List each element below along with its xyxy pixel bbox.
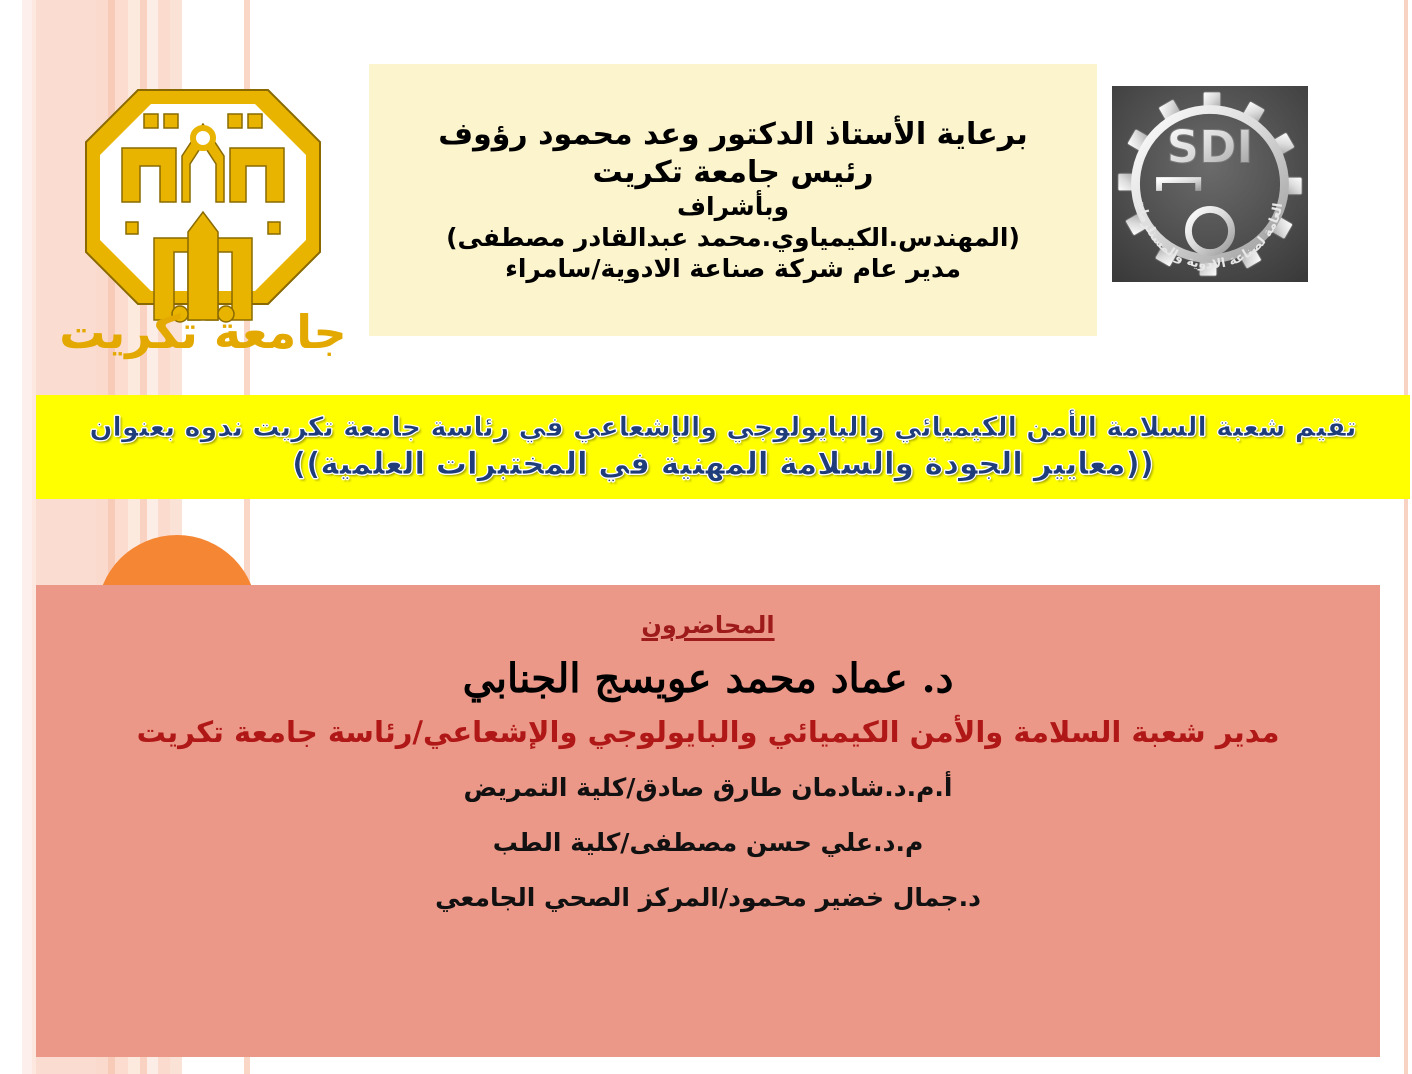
- poster-canvas: جامعة تكريت برعاية الأستاذ الدكتور وعد م…: [0, 0, 1412, 1074]
- banner-line-organizer: تقيم شعبة السلامة الأمن الكيميائي والباي…: [46, 413, 1400, 443]
- patronage-line-1: برعاية الأستاذ الدكتور وعد محمود رؤوف: [383, 116, 1083, 153]
- banner-line-title: ((معايير الجودة والسلامة المهنية في المخ…: [46, 447, 1400, 482]
- patronage-line-2: رئيس جامعة تكريت: [383, 154, 1083, 191]
- list-item: م.د.علي حسن مصطفى/كلية الطب: [66, 827, 1350, 858]
- decorative-stripe-band-right: [1398, 0, 1412, 1074]
- tikrit-university-logo-icon: جامعة تكريت: [48, 52, 358, 362]
- lecturers-heading: المحاضرون: [66, 611, 1350, 639]
- sdi-company-logo-icon: SDI الشركة العامة لصناعة الادوية والمستل…: [1112, 86, 1308, 282]
- main-lecturer-name: د. عماد محمد عويسج الجنابي: [66, 657, 1350, 701]
- main-lecturer-title: مدير شعبة السلامة والأمن الكيميائي والبا…: [66, 715, 1350, 750]
- patronage-line-4: (المهندس.الكيمياوي.محمد عبدالقادر مصطفى): [383, 222, 1083, 253]
- patronage-box: برعاية الأستاذ الدكتور وعد محمود رؤوف رئ…: [369, 64, 1097, 336]
- patronage-line-5: مدير عام شركة صناعة الادوية/سامراء: [383, 253, 1083, 284]
- seminar-announcement-banner: تقيم شعبة السلامة الأمن الكيميائي والباي…: [36, 395, 1410, 499]
- patronage-line-3: وبأشراف: [383, 191, 1083, 222]
- lecturers-panel: المحاضرون د. عماد محمد عويسج الجنابي مدي…: [36, 585, 1380, 1057]
- sdi-acronym: SDI: [1167, 120, 1254, 173]
- list-item: أ.م.د.شادمان طارق صادق/كلية التمريض: [66, 772, 1350, 803]
- svg-text:جامعة تكريت: جامعة تكريت: [59, 305, 346, 359]
- list-item: د.جمال خضير محمود/المركز الصحي الجامعي: [66, 882, 1350, 913]
